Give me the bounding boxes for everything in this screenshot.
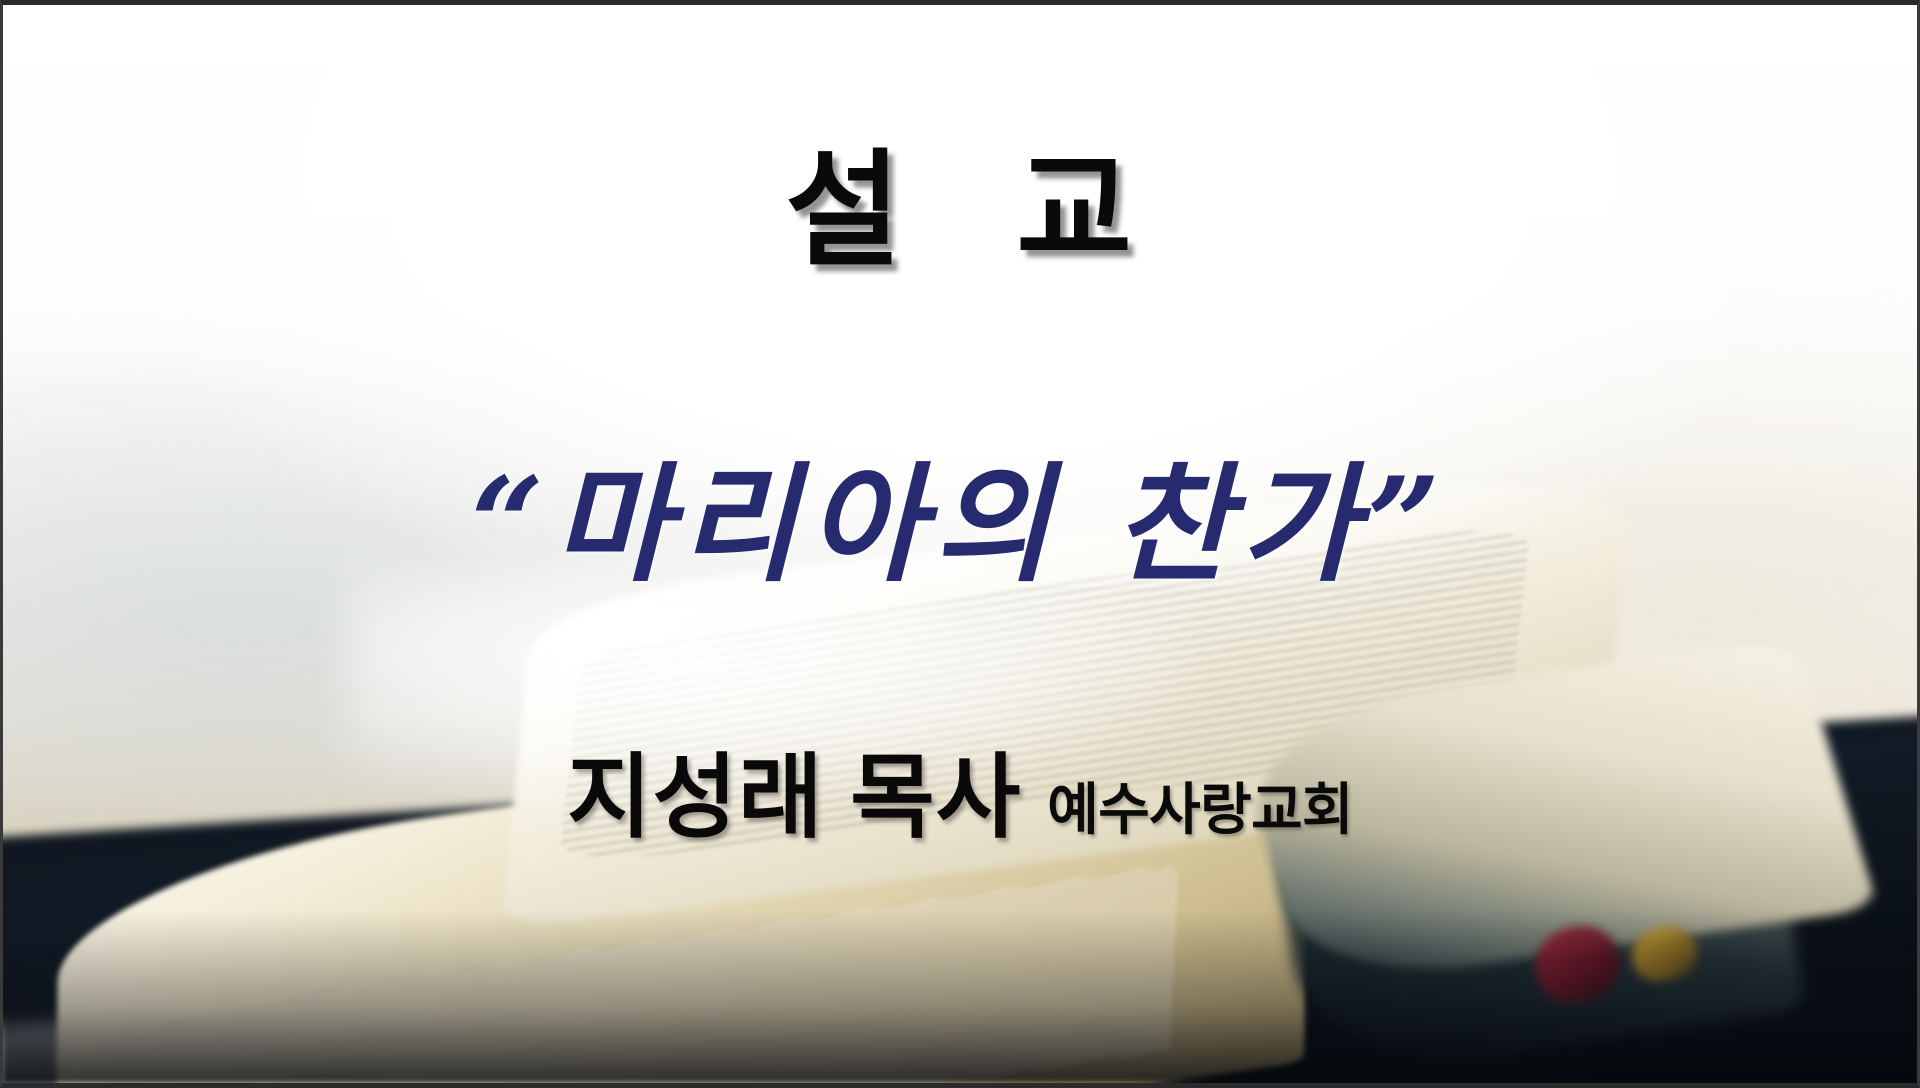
sermon-subtitle: “마리아의 찬가”	[3, 455, 1917, 596]
speaker-credit-row: 지성래 목사 예수사랑교회	[3, 723, 1917, 856]
sermon-heading: 설 교	[3, 143, 1917, 279]
sermon-title-slide: 설 교 “마리아의 찬가” 지성래 목사 예수사랑교회	[0, 0, 1920, 1088]
slide-content: 설 교 “마리아의 찬가” 지성래 목사 예수사랑교회	[3, 5, 1917, 1083]
church-name: 예수사랑교회	[1047, 765, 1353, 846]
speaker-name: 지성래 목사	[567, 723, 1021, 856]
